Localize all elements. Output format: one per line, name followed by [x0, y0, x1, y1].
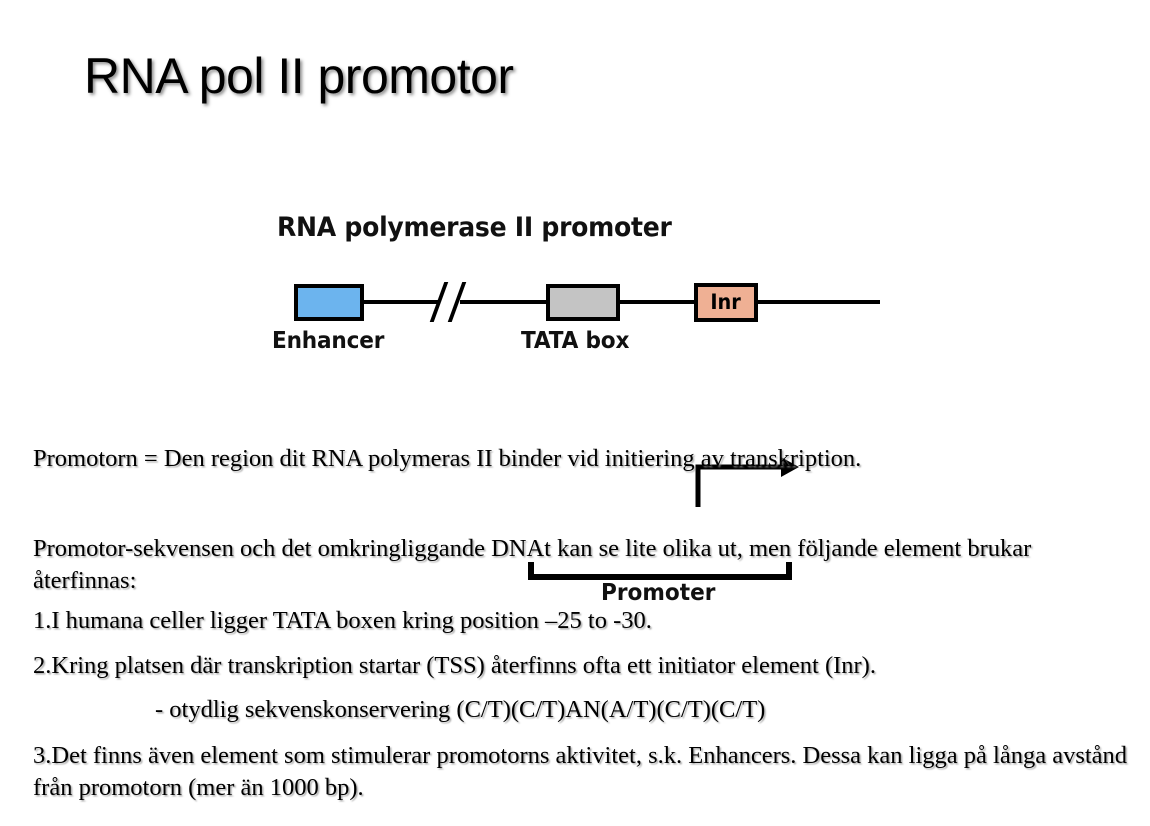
promoter-diagram: RNA polymerase II promoter Enhancer TATA…	[0, 200, 1150, 415]
dna-line-segment-left	[362, 300, 440, 304]
list-item-2: 2.Kring platsen där transkription starta…	[33, 650, 1123, 682]
list-item-2-sub: - otydlig sekvenskonservering (C/T)(C/T)…	[155, 694, 1150, 726]
tata-box	[546, 284, 620, 321]
intro-paragraph: Promotor-sekvensen och det omkringliggan…	[33, 533, 1098, 598]
enhancer-box	[294, 284, 364, 321]
tata-box-label: TATA box	[521, 328, 629, 354]
dna-line-segment-mid	[460, 300, 548, 304]
page-title: RNA pol II promotor	[84, 47, 514, 105]
definition-paragraph: Promotorn = Den region dit RNA polymeras…	[33, 443, 1123, 475]
list-item-3: 3.Det finns även element som stimulerar …	[33, 740, 1128, 805]
dna-line-segment-tata-inr	[618, 300, 696, 304]
diagram-heading: RNA polymerase II promoter	[277, 212, 672, 243]
inr-box: Inr	[694, 283, 758, 322]
list-item-1: 1.I humana celler ligger TATA boxen krin…	[33, 605, 1123, 637]
enhancer-label: Enhancer	[272, 328, 384, 354]
dna-line-segment-right	[756, 300, 880, 304]
inr-box-label: Inr	[711, 292, 741, 313]
